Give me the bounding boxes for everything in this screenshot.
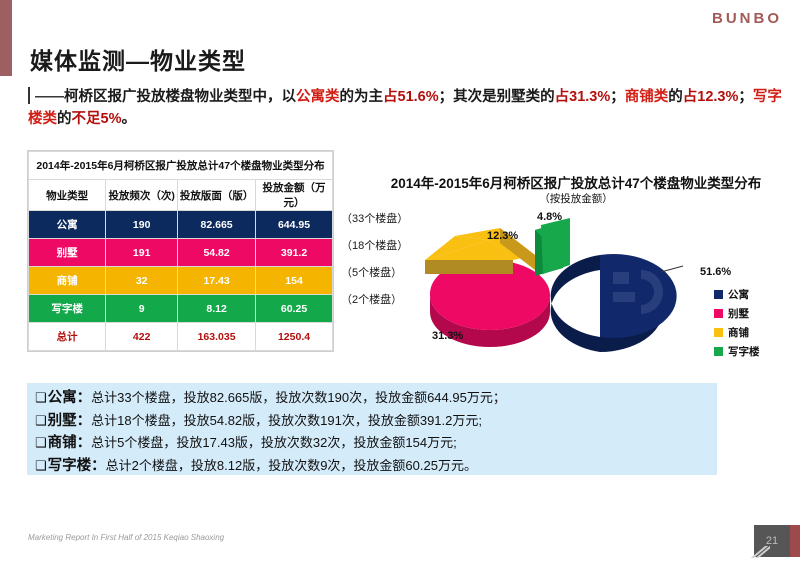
cell-type: 别墅	[29, 239, 106, 267]
summary-key: 公寓	[48, 390, 77, 406]
property-type-table: 2014年-2015年6月柯桥区报广投放总计47个楼盘物业类型分布 物业类型 投…	[27, 150, 334, 352]
cell-type: 写字楼	[29, 295, 106, 323]
legend-item: 写字楼	[714, 342, 760, 361]
cell-amount: 644.95	[256, 211, 333, 239]
legend-swatch-shop	[714, 328, 723, 337]
legend-item: 商铺	[714, 323, 760, 342]
cell-amount: 1250.4	[256, 323, 333, 351]
summary-sep: ：	[77, 435, 92, 451]
th-freq: 投放频次（次)	[106, 180, 178, 211]
table-caption-row: 2014年-2015年6月柯桥区报广投放总计47个楼盘物业类型分布	[29, 152, 333, 180]
lead-text-5: 的	[668, 89, 683, 105]
legend-item: 别墅	[714, 304, 760, 323]
summary-sep: ：	[77, 390, 92, 406]
th-amount: 投放金额（万元）	[256, 180, 333, 211]
legend-swatch-villa	[714, 309, 723, 318]
summary-text: 总计5个楼盘，投放17.43版，投放次数32次，投放金额154万元;	[91, 435, 457, 450]
summary-text: 总计18个楼盘，投放54.82版，投放次数191次，投放金额391.2万元;	[91, 413, 482, 428]
table-row: 商铺 32 17.43 154	[29, 267, 333, 295]
cell-pages: 54.82	[178, 239, 256, 267]
page-slash-decoration	[748, 546, 770, 558]
table-row: 写字楼 9 8.12 60.25	[29, 295, 333, 323]
lead-text-8: 。	[121, 111, 136, 127]
page-number-stripe	[790, 525, 800, 557]
chart-title: 2014年-2015年6月柯桥区报广投放总计47个楼盘物业类型分布	[360, 172, 792, 192]
pie-label-office: 4.8%	[537, 211, 562, 223]
summary-text: 总计2个楼盘，投放8.12版，投放次数9次，投放金额60.25万元。	[106, 458, 477, 473]
pie-label-villa: 31.3%	[432, 330, 463, 342]
cell-freq: 9	[106, 295, 178, 323]
lead-highlight-5: 占12.3%	[683, 89, 739, 105]
lead-text-7: 的	[57, 111, 72, 127]
summary-box: ❑公寓：总计33个楼盘，投放82.665版，投放次数190次，投放金额644.9…	[27, 383, 717, 475]
pie-label-apartment: 51.6%	[700, 266, 731, 278]
lead-highlight-3: 占31.3%	[555, 89, 611, 105]
cell-type: 公寓	[29, 211, 106, 239]
cell-type: 总计	[29, 323, 106, 351]
lead-text-1: 柯桥区报广投放楼盘物业类型中，以	[64, 89, 296, 105]
pie-label-shop: 12.3%	[487, 230, 518, 242]
lead-highlight-2: 占51.6%	[383, 89, 439, 105]
th-pages: 投放版面（版）	[178, 180, 256, 211]
legend-label: 别墅	[728, 306, 749, 321]
summary-text: 总计33个楼盘，投放82.665版，投放次数190次，投放金额644.95万元；	[91, 390, 506, 405]
pie-chart	[395, 200, 705, 375]
lead-highlight-7: 不足5%	[72, 111, 122, 127]
cell-pages: 8.12	[178, 295, 256, 323]
legend-swatch-office	[714, 347, 723, 356]
summary-line: ❑别墅：总计18个楼盘，投放54.82版，投放次数191次，投放金额391.2万…	[27, 410, 717, 433]
cell-freq: 32	[106, 267, 178, 295]
legend-label: 公寓	[728, 287, 749, 302]
legend-item: 公寓	[714, 285, 760, 304]
summary-sep: ：	[91, 458, 106, 474]
cell-freq: 191	[106, 239, 178, 267]
cell-pages: 82.665	[178, 211, 256, 239]
cell-pages: 163.035	[178, 323, 256, 351]
summary-line: ❑商铺：总计5个楼盘，投放17.43版，投放次数32次，投放金额154万元;	[27, 432, 717, 455]
lead-text-4: ；	[610, 89, 625, 105]
summary-key: 写字楼	[48, 458, 92, 474]
lead-text-6: ；	[738, 89, 753, 105]
cell-amount: 60.25	[256, 295, 333, 323]
table-header-row: 物业类型 投放频次（次) 投放版面（版） 投放金额（万元）	[29, 180, 333, 211]
cell-amount: 154	[256, 267, 333, 295]
table-row: 别墅 191 54.82 391.2	[29, 239, 333, 267]
lead-highlight-1: 公寓类	[296, 89, 340, 105]
legend-label: 商铺	[728, 325, 749, 340]
legend-label: 写字楼	[728, 344, 760, 359]
brand-logo: BUNBO	[712, 10, 782, 27]
summary-marker-icon: ❑	[35, 435, 47, 450]
cell-pages: 17.43	[178, 267, 256, 295]
lead-text-2: 的为主	[340, 89, 384, 105]
left-accent-bar	[0, 0, 12, 76]
cell-amount: 391.2	[256, 239, 333, 267]
chart-legend: 公寓 别墅 商铺 写字楼	[714, 285, 760, 361]
summary-line: ❑写字楼：总计2个楼盘，投放8.12版，投放次数9次，投放金额60.25万元。	[27, 455, 717, 478]
summary-sep: ：	[77, 413, 92, 429]
lead-highlight-4: 商铺类	[625, 89, 669, 105]
summary-marker-icon: ❑	[35, 390, 47, 405]
lead-text-3: ；其次是别墅类的	[439, 89, 555, 105]
footer-note: Marketing Report In First Half of 2015 K…	[28, 533, 224, 542]
table-total-row: 总计 422 163.035 1250.4	[29, 323, 333, 351]
cell-freq: 422	[106, 323, 178, 351]
summary-marker-icon: ❑	[35, 413, 47, 428]
summary-marker-icon: ❑	[35, 458, 47, 473]
lead-dash: ——	[35, 89, 64, 105]
cell-freq: 190	[106, 211, 178, 239]
slide-canvas: BUNBO 媒体监测—物业类型 ——柯桥区报广投放楼盘物业类型中，以公寓类的为主…	[0, 0, 800, 565]
th-type: 物业类型	[29, 180, 106, 211]
page-title: 媒体监测—物业类型	[30, 42, 246, 76]
table-row: 公寓 190 82.665 644.95	[29, 211, 333, 239]
lead-paragraph: ——柯桥区报广投放楼盘物业类型中，以公寓类的为主占51.6%；其次是别墅类的占3…	[28, 86, 783, 130]
legend-swatch-apartment	[714, 290, 723, 299]
lead-tick-marker	[28, 87, 30, 104]
summary-key: 别墅	[48, 413, 77, 429]
summary-key: 商铺	[48, 435, 77, 451]
summary-line: ❑公寓：总计33个楼盘，投放82.665版，投放次数190次，投放金额644.9…	[27, 383, 717, 410]
cell-type: 商铺	[29, 267, 106, 295]
table-caption: 2014年-2015年6月柯桥区报广投放总计47个楼盘物业类型分布	[29, 152, 333, 180]
